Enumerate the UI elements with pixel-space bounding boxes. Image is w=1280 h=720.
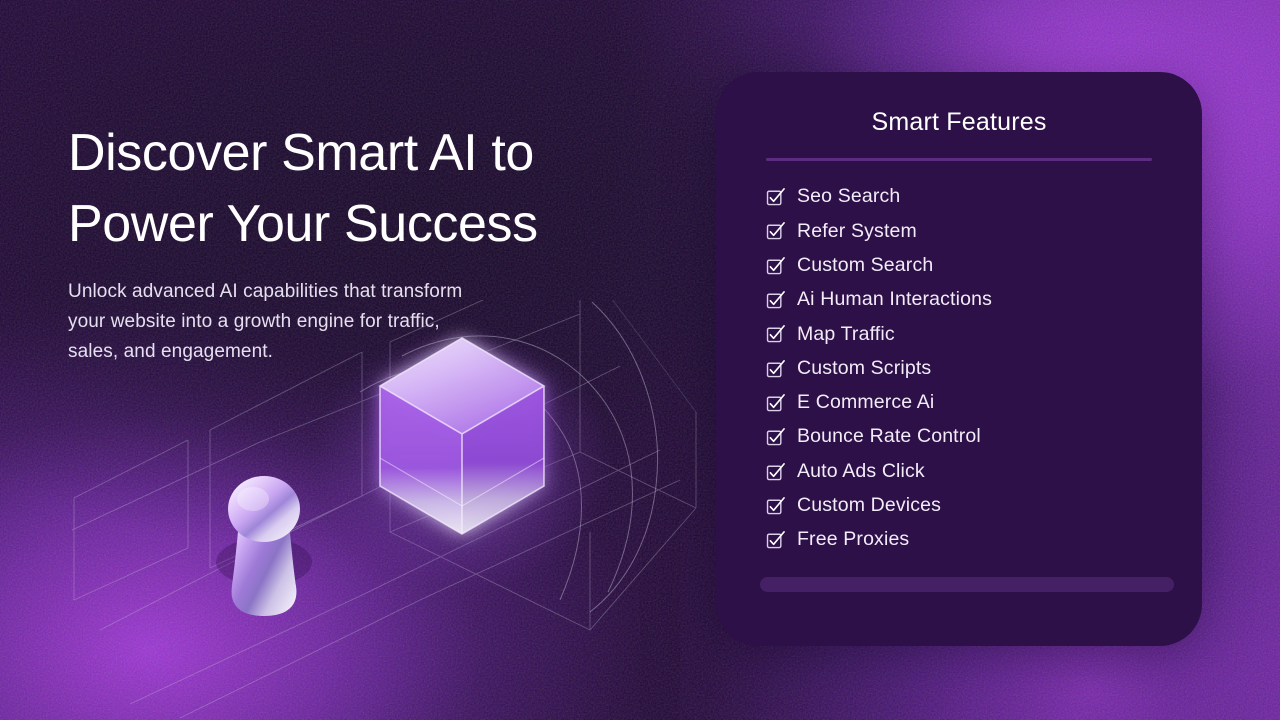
feature-list-item[interactable]: Free Proxies <box>766 523 1202 557</box>
feature-list-item[interactable]: Custom Devices <box>766 489 1202 523</box>
feature-list-item[interactable]: Auto Ads Click <box>766 454 1202 488</box>
feature-list-item[interactable]: Bounce Rate Control <box>766 420 1202 454</box>
feature-item-label: Bounce Rate Control <box>797 427 981 447</box>
feature-list-item[interactable]: E Commerce Ai <box>766 386 1202 420</box>
checkbox-checked-icon[interactable] <box>766 360 785 379</box>
card-divider <box>766 158 1152 161</box>
feature-list: Seo SearchRefer SystemCustom SearchAi Hu… <box>716 180 1202 557</box>
card-title: Smart Features <box>716 108 1202 137</box>
feature-item-label: Auto Ads Click <box>797 462 925 482</box>
checkbox-checked-icon[interactable] <box>766 291 785 310</box>
checkbox-checked-icon[interactable] <box>766 257 785 276</box>
feature-list-item[interactable]: Custom Scripts <box>766 351 1202 385</box>
checkbox-checked-icon[interactable] <box>766 463 785 482</box>
checkbox-checked-icon[interactable] <box>766 188 785 207</box>
checkbox-checked-icon[interactable] <box>766 394 785 413</box>
feature-item-label: Free Proxies <box>797 530 909 550</box>
feature-item-label: Ai Human Interactions <box>797 290 992 310</box>
smart-features-card: Smart Features Seo SearchRefer SystemCus… <box>716 72 1202 646</box>
feature-item-label: Custom Devices <box>797 496 941 516</box>
glowing-cube <box>312 328 612 592</box>
checkbox-checked-icon[interactable] <box>766 325 785 344</box>
feature-list-item[interactable]: Ai Human Interactions <box>766 283 1202 317</box>
checkbox-checked-icon[interactable] <box>766 428 785 447</box>
feature-item-label: E Commerce Ai <box>797 393 934 413</box>
hero-copy-block: Discover Smart AI to Power Your Success … <box>68 118 668 366</box>
feature-list-item[interactable]: Map Traffic <box>766 317 1202 351</box>
feature-list-item[interactable]: Seo Search <box>766 180 1202 214</box>
page-title: Discover Smart AI to Power Your Success <box>68 118 668 259</box>
feature-item-label: Map Traffic <box>797 325 895 345</box>
checkbox-checked-icon[interactable] <box>766 222 785 241</box>
checkbox-checked-icon[interactable] <box>766 497 785 516</box>
feature-item-label: Custom Search <box>797 256 933 276</box>
page-background: Discover Smart AI to Power Your Success … <box>0 0 1280 720</box>
feature-item-label: Custom Scripts <box>797 359 931 379</box>
feature-list-item[interactable]: Refer System <box>766 214 1202 248</box>
hero-subheadline: Unlock advanced AI capabilities that tra… <box>68 277 668 366</box>
feature-item-label: Refer System <box>797 222 917 242</box>
checkbox-checked-icon[interactable] <box>766 531 785 550</box>
feature-list-item[interactable]: Custom Search <box>766 249 1202 283</box>
card-footer-bar[interactable] <box>760 577 1174 592</box>
pawn-figure <box>216 476 312 616</box>
feature-item-label: Seo Search <box>797 187 900 207</box>
